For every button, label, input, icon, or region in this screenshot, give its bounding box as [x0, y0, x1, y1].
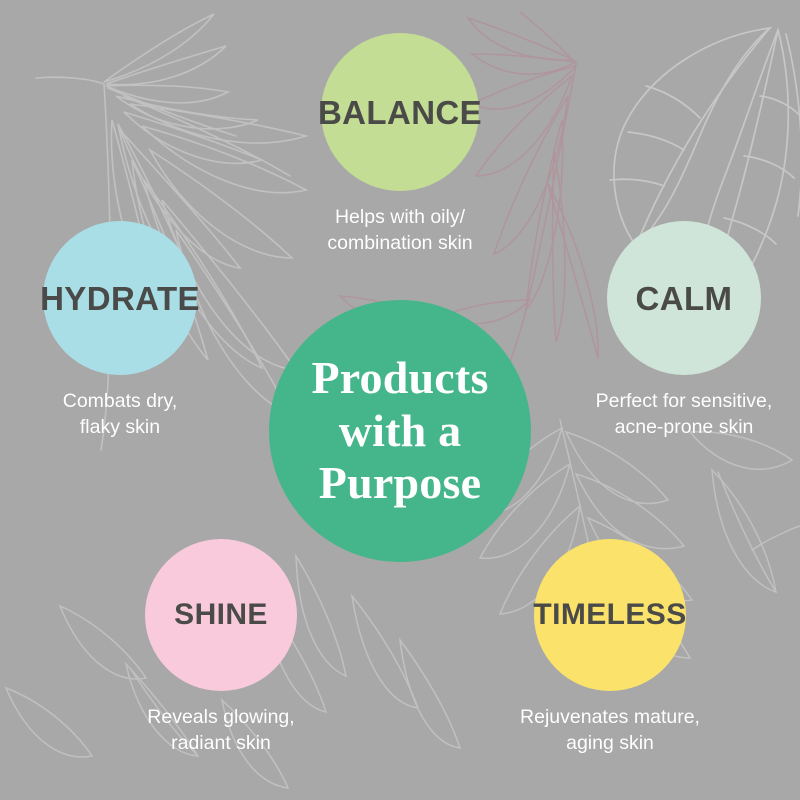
node-shine: SHINE Reveals glowing, radiant skin: [83, 539, 359, 757]
bubble-balance[interactable]: BALANCE: [321, 33, 479, 191]
bubble-hydrate[interactable]: HYDRATE: [43, 221, 197, 375]
center-node: Products with a Purpose: [269, 300, 531, 562]
caption-calm: Perfect for sensitive, acne-prone skin: [596, 389, 773, 441]
caption-shine: Reveals glowing, radiant skin: [147, 705, 294, 757]
center-title: Products with a Purpose: [311, 352, 488, 509]
caption-hydrate: Combats dry, flaky skin: [63, 389, 178, 441]
label-timeless: TIMELESS: [533, 600, 686, 630]
node-timeless: TIMELESS Rejuvenates mature, aging skin: [460, 539, 760, 757]
node-calm: CALM Perfect for sensitive, acne-prone s…: [578, 221, 790, 441]
center-bubble: Products with a Purpose: [269, 300, 531, 562]
node-balance: BALANCE Helps with oily/ combination ski…: [275, 33, 525, 257]
bubble-calm[interactable]: CALM: [607, 221, 761, 375]
infographic-canvas: Products with a Purpose BALANCE Helps wi…: [0, 0, 800, 800]
node-hydrate: HYDRATE Combats dry, flaky skin: [15, 221, 225, 441]
bubble-timeless[interactable]: TIMELESS: [534, 539, 686, 691]
label-shine: SHINE: [174, 600, 268, 630]
caption-timeless: Rejuvenates mature, aging skin: [520, 705, 700, 757]
label-hydrate: HYDRATE: [40, 282, 200, 315]
label-balance: BALANCE: [318, 96, 482, 129]
caption-balance: Helps with oily/ combination skin: [327, 205, 472, 257]
label-calm: CALM: [636, 282, 733, 315]
bubble-shine[interactable]: SHINE: [145, 539, 297, 691]
